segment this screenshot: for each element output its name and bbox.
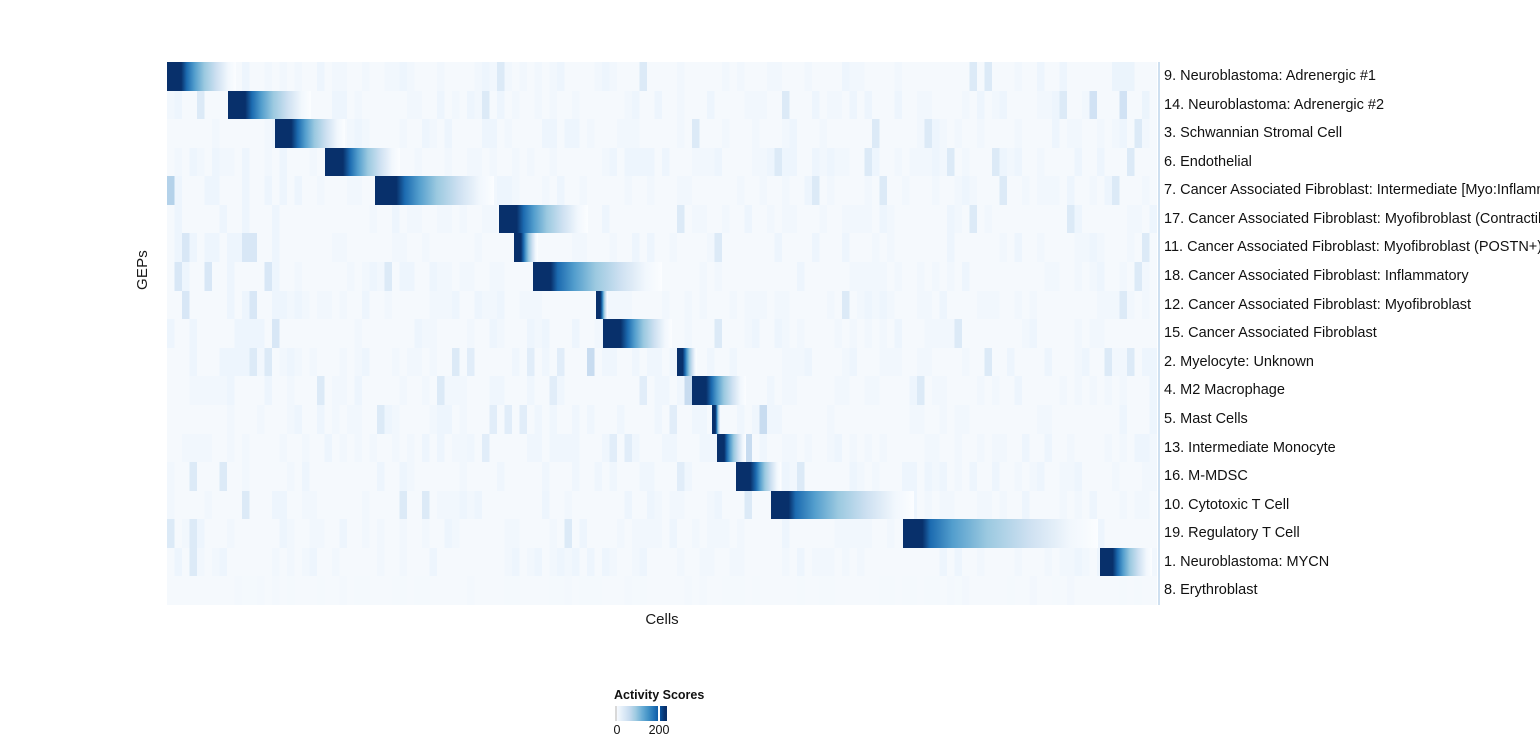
y-axis-label: GEPs xyxy=(134,250,151,290)
colorbar-tick-0 xyxy=(615,706,617,721)
colorbar-legend: Activity Scores 0 200 xyxy=(615,688,667,739)
heatmap-row-stripes xyxy=(167,291,1157,320)
heatmap-row-stripes xyxy=(167,462,1157,491)
heatmap-row xyxy=(167,491,1157,520)
heatmap-row xyxy=(167,119,1157,148)
heatmap-activity-block xyxy=(375,176,494,205)
heatmap-activity-block xyxy=(167,62,236,91)
heatmap-row-stripes xyxy=(167,91,1157,120)
heatmap-row-stripes xyxy=(167,62,1157,91)
heatmap-activity-block xyxy=(677,348,697,377)
heatmap-row-stripes xyxy=(167,233,1157,262)
heatmap-activity-block xyxy=(603,319,672,348)
row-label: 7. Cancer Associated Fibroblast: Interme… xyxy=(1164,176,1540,205)
row-label: 9. Neuroblastoma: Adrenergic #1 xyxy=(1164,62,1540,91)
heatmap-row-stripes xyxy=(167,376,1157,405)
colorbar-title: Activity Scores xyxy=(614,688,666,702)
heatmap-row xyxy=(167,348,1157,377)
heatmap-activity-block xyxy=(771,491,915,520)
heatmap-activity-block xyxy=(1100,548,1152,577)
heatmap-row-stripes xyxy=(167,205,1157,234)
heatmap-row xyxy=(167,576,1157,605)
heatmap-row xyxy=(167,176,1157,205)
heatmap-row xyxy=(167,548,1157,577)
heatmap-row xyxy=(167,62,1157,91)
heatmap-row-stripes xyxy=(167,119,1157,148)
heatmap-row-stripes xyxy=(167,348,1157,377)
row-label: 17. Cancer Associated Fibroblast: Myofib… xyxy=(1164,205,1540,234)
heatmap-row xyxy=(167,376,1157,405)
heatmap-row-stripes xyxy=(167,319,1157,348)
heatmap-activity-block xyxy=(275,119,345,148)
row-label: 2. Myelocyte: Unknown xyxy=(1164,348,1540,377)
colorbar-tick-labels: 0 200 xyxy=(615,723,667,739)
colorbar-tick-200 xyxy=(658,706,660,721)
heatmap-row xyxy=(167,434,1157,463)
heatmap-row xyxy=(167,148,1157,177)
heatmap-row xyxy=(167,291,1157,320)
x-axis-label: Cells xyxy=(167,611,1157,628)
row-label: 19. Regulatory T Cell xyxy=(1164,519,1540,548)
heatmap-activity-block xyxy=(736,462,781,491)
heatmap-activity-block xyxy=(533,262,662,291)
row-label: 5. Mast Cells xyxy=(1164,405,1540,434)
row-label: 3. Schwannian Stromal Cell xyxy=(1164,119,1540,148)
row-label-list: 9. Neuroblastoma: Adrenergic #114. Neuro… xyxy=(1164,62,1540,605)
heatmap-row-stripes xyxy=(167,519,1157,548)
heatmap-activity-block xyxy=(712,405,722,434)
row-label: 14. Neuroblastoma: Adrenergic #2 xyxy=(1164,91,1540,120)
row-label: 6. Endothelial xyxy=(1164,148,1540,177)
heatmap-figure: GEPs 9. Neuroblastoma: Adrenergic #114. … xyxy=(0,0,1540,743)
heatmap-activity-block xyxy=(499,205,588,234)
row-label: 12. Cancer Associated Fibroblast: Myofib… xyxy=(1164,291,1540,320)
heatmap-activity-block xyxy=(228,91,310,120)
heatmap-row xyxy=(167,233,1157,262)
heatmap-row-stripes xyxy=(167,576,1157,605)
heatmap-row-stripes xyxy=(167,491,1157,520)
row-label: 11. Cancer Associated Fibroblast: Myofib… xyxy=(1164,233,1540,262)
heatmap-row-stripes xyxy=(167,434,1157,463)
heatmap-row-stripes xyxy=(167,548,1157,577)
colorbar-tick-label-0: 0 xyxy=(614,723,621,737)
heatmap-row-stripes xyxy=(167,176,1157,205)
colorbar-gradient-wrap xyxy=(615,706,667,721)
row-label: 8. Erythroblast xyxy=(1164,576,1540,605)
row-label: 10. Cytotoxic T Cell xyxy=(1164,491,1540,520)
plot-right-spine xyxy=(1158,62,1160,605)
heatmap-row-stripes xyxy=(167,405,1157,434)
row-label: 15. Cancer Associated Fibroblast xyxy=(1164,319,1540,348)
heatmap-row-stripes xyxy=(167,148,1157,177)
heatmap-row xyxy=(167,319,1157,348)
heatmap-activity-block xyxy=(514,233,539,262)
row-label: 1. Neuroblastoma: MYCN xyxy=(1164,548,1540,577)
heatmap-row xyxy=(167,462,1157,491)
heatmap-activity-block xyxy=(717,434,746,463)
row-label: 4. M2 Macrophage xyxy=(1164,376,1540,405)
heatmap-row xyxy=(167,205,1157,234)
heatmap-row xyxy=(167,405,1157,434)
row-label: 13. Intermediate Monocyte xyxy=(1164,434,1540,463)
heatmap-activity-block xyxy=(596,291,608,320)
colorbar-tick-label-200: 200 xyxy=(649,723,670,737)
row-label: 16. M-MDSC xyxy=(1164,462,1540,491)
heatmap-activity-block xyxy=(325,148,399,177)
heatmap-activity-block xyxy=(903,519,1098,548)
heatmap-plot-area xyxy=(167,62,1157,605)
row-label: 18. Cancer Associated Fibroblast: Inflam… xyxy=(1164,262,1540,291)
heatmap-activity-block xyxy=(692,376,746,405)
heatmap-row-stripes xyxy=(167,262,1157,291)
heatmap-row xyxy=(167,519,1157,548)
heatmap-row xyxy=(167,91,1157,120)
heatmap-row xyxy=(167,262,1157,291)
